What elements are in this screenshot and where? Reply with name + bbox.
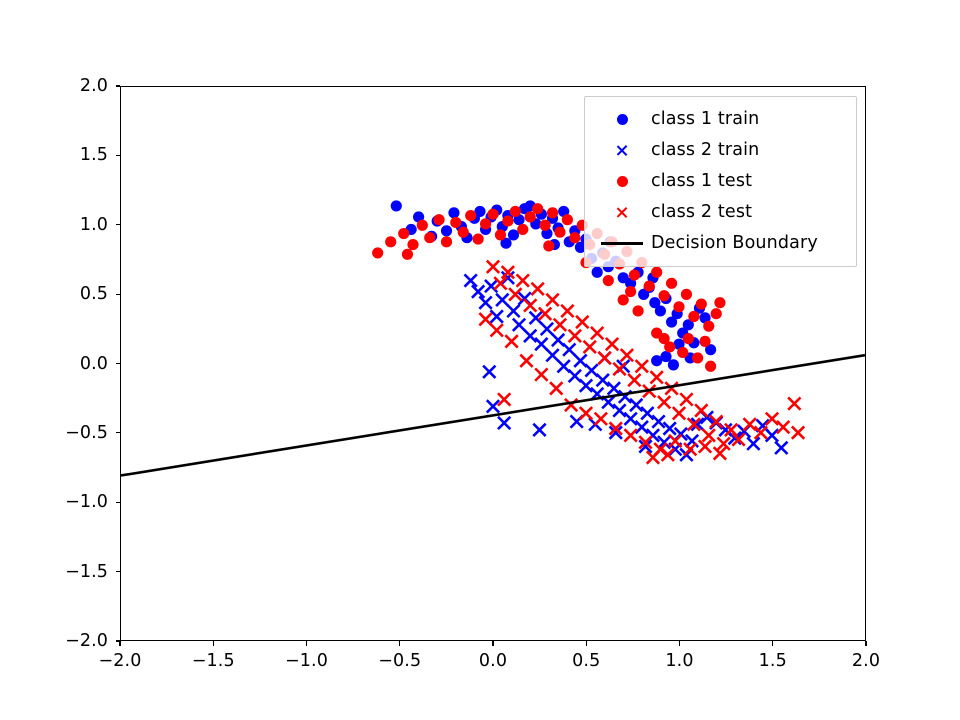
data-point (441, 225, 452, 236)
data-point (630, 399, 642, 411)
data-point (688, 311, 699, 322)
data-point (496, 294, 508, 306)
data-point (508, 229, 519, 240)
data-point (554, 227, 565, 238)
x-tick-label: 0.0 (479, 651, 507, 671)
data-point (621, 349, 633, 361)
legend-marker-x-icon (593, 135, 651, 166)
x-tick-mark (213, 641, 214, 646)
data-point (535, 368, 547, 380)
data-point (668, 359, 679, 370)
legend-marker-line-icon (593, 228, 651, 259)
data-point (711, 308, 722, 319)
data-point (532, 203, 543, 214)
data-point (487, 400, 499, 412)
decision-boundary-line (121, 355, 865, 475)
data-point (650, 371, 662, 383)
y-tick-mark (116, 363, 121, 364)
data-point (684, 443, 696, 455)
y-tick-label: −1.0 (0, 492, 108, 512)
data-point (517, 224, 528, 235)
data-point (517, 274, 529, 286)
data-point (591, 327, 603, 339)
x-tick-mark (772, 641, 773, 646)
data-point (629, 269, 640, 280)
data-point (703, 321, 714, 332)
x-tick-mark (586, 641, 587, 646)
data-point (580, 379, 592, 391)
data-point (487, 209, 498, 220)
data-point (480, 218, 491, 229)
data-point (494, 277, 506, 289)
data-point (464, 274, 476, 286)
legend-label-2: class 1 test (651, 173, 752, 191)
data-point (510, 206, 521, 217)
data-point (533, 424, 545, 436)
data-point (632, 305, 643, 316)
x-tick-label: −1.5 (192, 651, 235, 671)
data-point (398, 228, 409, 239)
data-point (788, 397, 800, 409)
data-point (766, 429, 778, 441)
data-point (473, 233, 484, 244)
data-point (775, 442, 787, 454)
data-point (498, 417, 510, 429)
data-point (636, 360, 648, 372)
data-point (424, 232, 435, 243)
data-point (491, 324, 503, 336)
data-point (655, 305, 666, 316)
data-point (372, 247, 383, 258)
data-point (624, 429, 636, 441)
x-tick-mark (679, 641, 680, 646)
legend-marker-circle-icon (593, 166, 651, 197)
data-point (550, 382, 562, 394)
x-tick-label: −1.0 (285, 651, 328, 671)
data-point (565, 399, 577, 411)
data-point (666, 278, 677, 289)
data-point (714, 297, 725, 308)
legend-label-0: class 1 train (651, 111, 759, 129)
y-tick-mark (116, 432, 121, 433)
y-tick-label: 0.5 (0, 284, 108, 304)
data-point (592, 267, 603, 278)
data-point (458, 227, 469, 238)
data-point (641, 407, 653, 419)
data-point (659, 290, 670, 301)
data-point (525, 211, 536, 222)
x-tick-mark (399, 641, 400, 646)
data-point (613, 404, 625, 416)
y-tick-mark (116, 294, 121, 295)
data-point (677, 347, 688, 358)
data-point (625, 286, 636, 297)
data-point (580, 407, 592, 419)
x-tick-label: −0.5 (378, 651, 421, 671)
data-point (531, 283, 543, 295)
data-point (636, 421, 648, 433)
x-tick-label: −2.0 (99, 651, 142, 671)
data-point (695, 404, 707, 416)
data-point (479, 296, 491, 308)
data-point (766, 413, 778, 425)
data-point (606, 338, 618, 350)
data-point (664, 422, 676, 434)
data-point (417, 220, 428, 231)
x-tick-mark (306, 641, 307, 646)
x-tick-label: 1.5 (759, 651, 787, 671)
data-point (485, 280, 497, 292)
data-point (402, 249, 413, 260)
data-point (479, 313, 491, 325)
data-point (747, 438, 759, 450)
legend-item-0[interactable]: class 1 train (593, 104, 847, 135)
data-point (699, 336, 710, 347)
y-tick-label: 2.0 (0, 76, 108, 96)
data-point (520, 355, 532, 367)
data-point (391, 200, 402, 211)
data-point (513, 319, 525, 331)
data-point (541, 323, 553, 335)
data-point (705, 361, 716, 372)
y-tick-label: 1.0 (0, 215, 108, 235)
data-point (692, 352, 703, 363)
data-point (608, 382, 620, 394)
data-point (777, 421, 789, 433)
data-point (472, 285, 484, 297)
y-tick-mark (116, 571, 121, 572)
data-point (441, 236, 452, 247)
data-point (543, 240, 554, 251)
data-point (673, 301, 684, 312)
data-point (696, 298, 707, 309)
x-tick-mark (865, 641, 866, 646)
data-point (673, 407, 685, 419)
data-point (569, 330, 581, 342)
data-point (662, 449, 674, 461)
data-point (505, 335, 517, 347)
data-point (659, 333, 670, 344)
legend-label-4: Decision Boundary (651, 235, 818, 253)
data-point (652, 415, 664, 427)
data-point (651, 267, 662, 278)
data-point (407, 239, 418, 250)
data-point (743, 418, 755, 430)
legend-marker-circle-icon (593, 104, 651, 135)
legend-label-3: class 2 test (651, 204, 752, 222)
data-point (547, 207, 558, 218)
data-point (433, 214, 444, 225)
legend-marker-x-icon (593, 197, 651, 228)
y-tick-label: 0.0 (0, 354, 108, 374)
y-tick-mark (116, 502, 121, 503)
x-tick-label: 1.0 (665, 651, 693, 671)
data-point (624, 413, 636, 425)
x-tick-mark (119, 641, 120, 646)
y-tick-mark (116, 85, 121, 86)
legend-item-4[interactable]: Decision Boundary (593, 228, 847, 259)
data-point (495, 229, 506, 240)
data-point (595, 413, 607, 425)
data-point (576, 316, 588, 328)
legend-item-1[interactable]: class 2 train (593, 135, 847, 166)
data-point (524, 330, 536, 342)
data-point (385, 236, 396, 247)
data-point (669, 435, 681, 447)
data-point (584, 341, 596, 353)
data-point (651, 355, 662, 366)
x-tick-label: 2.0 (852, 651, 880, 671)
legend-label-1: class 2 train (651, 142, 759, 160)
data-point (792, 426, 804, 438)
legend-item-2[interactable]: class 1 test (593, 166, 847, 197)
data-point (699, 440, 711, 452)
y-tick-mark (116, 224, 121, 225)
y-tick-label: −1.5 (0, 562, 108, 582)
data-point (681, 289, 692, 300)
data-point (680, 393, 692, 405)
x-tick-label: 0.5 (572, 651, 600, 671)
y-tick-label: 1.5 (0, 145, 108, 165)
data-point (535, 338, 547, 350)
data-point (561, 305, 573, 317)
y-tick-label: −0.5 (0, 423, 108, 443)
data-point (598, 352, 610, 364)
data-point (597, 374, 609, 386)
data-point (450, 217, 461, 228)
data-point (524, 299, 536, 311)
data-point (569, 232, 580, 243)
data-point (603, 275, 614, 286)
data-point (487, 261, 499, 273)
data-point (502, 216, 513, 227)
data-point (683, 333, 694, 344)
data-point (658, 396, 670, 408)
x-tick-mark (492, 641, 493, 646)
data-point (491, 310, 503, 322)
data-point (647, 451, 659, 463)
data-point (539, 220, 550, 231)
y-tick-label: −2.0 (0, 631, 108, 651)
matplotlib-figure: −2.0−1.5−1.0−0.50.00.51.01.52.0−2.0−1.5−… (0, 0, 960, 720)
data-point (483, 366, 495, 378)
data-point (628, 374, 640, 386)
data-point (465, 210, 476, 221)
legend-item-3[interactable]: class 2 test (593, 197, 847, 228)
data-point (546, 349, 558, 361)
data-point (448, 207, 459, 218)
data-point (562, 214, 573, 225)
data-point (613, 363, 625, 375)
data-point (546, 294, 558, 306)
data-point (644, 281, 655, 292)
data-point (507, 305, 519, 317)
data-point (554, 319, 566, 331)
data-point (563, 343, 575, 355)
y-tick-mark (116, 155, 121, 156)
data-point (703, 429, 715, 441)
data-point (498, 393, 510, 405)
plot-legend: class 1 train class 2 train class 1 test… (584, 96, 857, 267)
data-point (618, 294, 629, 305)
